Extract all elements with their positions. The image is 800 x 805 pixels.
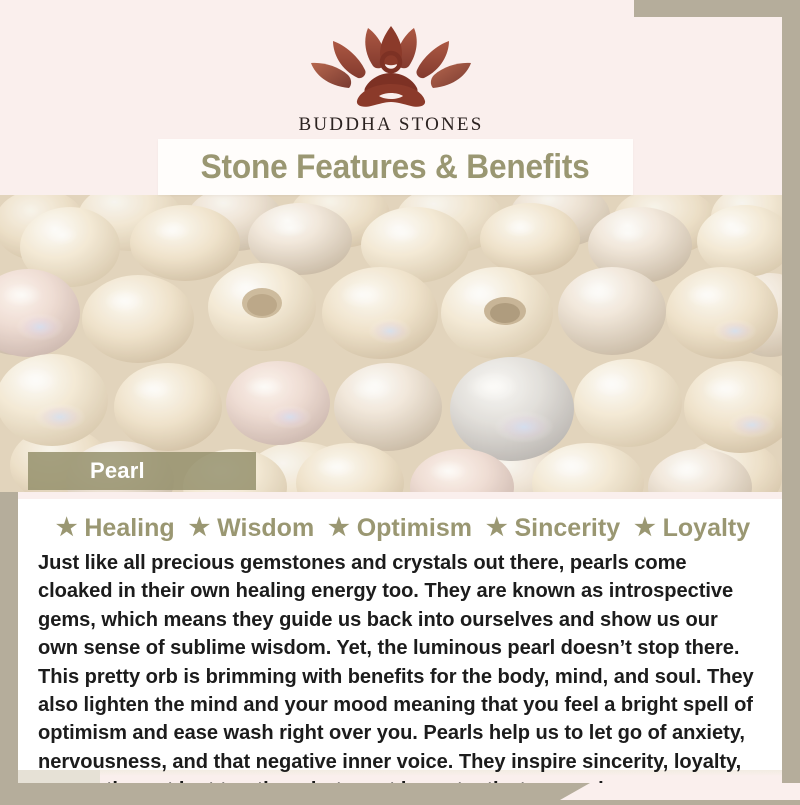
page-title: Stone Features & Benefits bbox=[201, 148, 590, 187]
frame-band-left bbox=[0, 492, 18, 800]
stone-description: Just like all precious gemstones and cry… bbox=[38, 549, 757, 805]
benefit-label: Sincerity bbox=[515, 514, 621, 543]
benefit-item: ★ Loyalty bbox=[627, 514, 757, 543]
star-icon: ★ bbox=[634, 516, 656, 540]
benefit-item: ★ Healing bbox=[49, 514, 182, 543]
stone-name: Pearl bbox=[90, 458, 145, 484]
benefit-label: Optimism bbox=[357, 514, 472, 543]
frame-band-top-right bbox=[634, 0, 800, 17]
benefits-list: ★ Healing ★ Wisdom ★ Optimism ★ Sincerit… bbox=[38, 509, 768, 547]
star-icon: ★ bbox=[56, 516, 78, 540]
frame-band-right bbox=[782, 0, 800, 800]
star-icon: ★ bbox=[486, 516, 508, 540]
frame-band-bottom-accent bbox=[560, 783, 800, 800]
benefit-label: Loyalty bbox=[663, 514, 751, 543]
benefit-item: ★ Optimism bbox=[321, 514, 479, 543]
star-icon: ★ bbox=[189, 516, 211, 540]
lotus-meditation-figure-icon bbox=[305, 22, 477, 108]
brand-name: BUDDHA STONES bbox=[298, 114, 483, 136]
stone-name-bar: Pearl bbox=[28, 452, 256, 490]
star-icon: ★ bbox=[328, 516, 350, 540]
stone-photo bbox=[0, 195, 782, 492]
benefit-item: ★ Sincerity bbox=[479, 514, 627, 543]
benefit-item: ★ Wisdom bbox=[182, 514, 322, 543]
benefit-label: Wisdom bbox=[217, 514, 314, 543]
poster-root: BUDDHA STONES Stone Features & Benefits bbox=[0, 0, 800, 800]
benefit-label: Healing bbox=[84, 514, 174, 543]
content-card: ★ Healing ★ Wisdom ★ Optimism ★ Sincerit… bbox=[18, 499, 782, 770]
page-title-card: Stone Features & Benefits bbox=[158, 139, 633, 195]
